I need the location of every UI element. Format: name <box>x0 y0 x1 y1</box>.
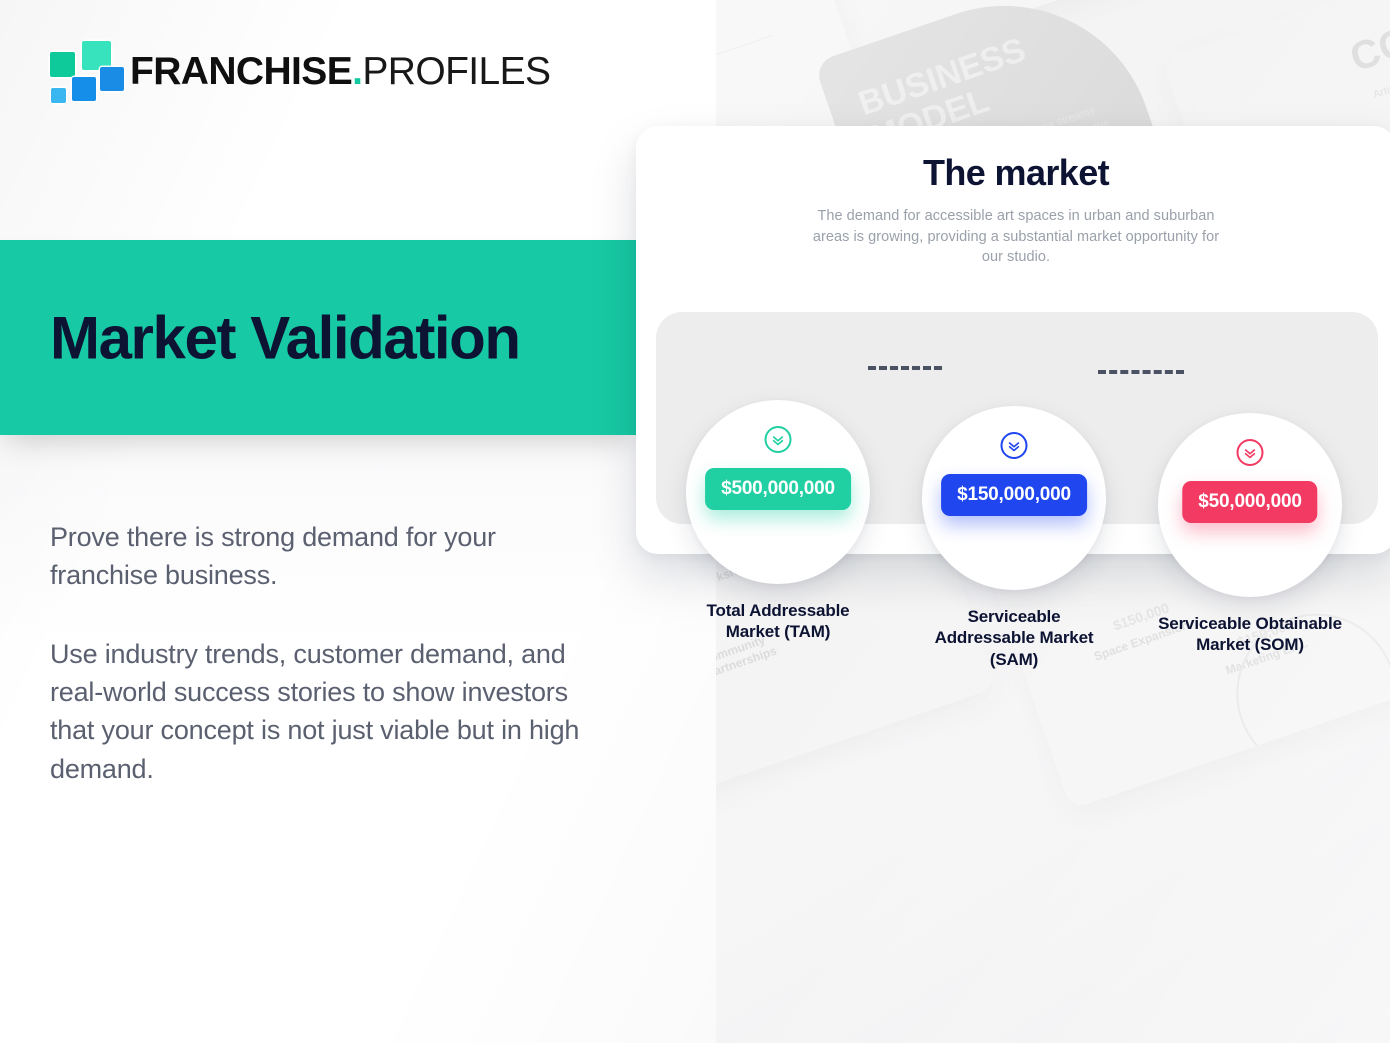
market-node-som-disc: $50,000,000 <box>1158 413 1342 597</box>
market-node-sam-disc: $150,000,000 <box>922 406 1106 590</box>
market-node-tam-value: $500,000,000 <box>705 468 851 510</box>
market-node-tam-caption: Total Addressable Market (TAM) <box>686 600 870 643</box>
slide-canvas: Lack of Accessibility High Cost Limited … <box>0 0 1390 1043</box>
connector-sam-to-som <box>1098 370 1184 374</box>
logo-square-teal-dark <box>50 52 75 77</box>
market-nodes-group: $500,000,000 Total Addressable Market (T… <box>636 126 1390 554</box>
double-chevron-down-icon <box>1237 439 1264 466</box>
logo-word-profiles: PROFILES <box>362 50 550 93</box>
brand-logo[interactable]: FRANCHISE.PROFILES <box>48 40 550 102</box>
market-node-som-caption: Serviceable Obtainable Market (SOM) <box>1158 613 1342 656</box>
logo-square-blue-2 <box>100 67 124 91</box>
page-title: Market Validation <box>50 303 520 372</box>
body-copy: Prove there is strong demand for your fr… <box>50 518 595 788</box>
connector-tam-to-sam <box>868 366 942 370</box>
bg-rule-1 <box>716 35 773 95</box>
market-node-sam[interactable]: $150,000,000 Serviceable Addressable Mar… <box>922 406 1106 670</box>
left-panel: FRANCHISE.PROFILES Prove there is strong… <box>0 0 716 1043</box>
logo-dot: . <box>352 50 362 93</box>
body-paragraph-1: Prove there is strong demand for your fr… <box>50 518 595 595</box>
logo-wordmark: FRANCHISE.PROFILES <box>130 52 550 91</box>
logo-square-blue-1 <box>72 77 96 101</box>
double-chevron-down-icon <box>1001 432 1028 459</box>
logo-square-blue-small <box>51 88 66 103</box>
market-node-sam-value: $150,000,000 <box>941 474 1087 516</box>
bg-title-competition: COMP <box>1345 0 1390 81</box>
market-node-tam-disc: $500,000,000 <box>686 400 870 584</box>
logo-square-teal-light <box>82 41 111 70</box>
title-banner: Market Validation <box>0 240 638 435</box>
market-card: The market The demand for accessible art… <box>636 126 1390 554</box>
market-node-sam-caption: Serviceable Addressable Market (SAM) <box>922 606 1106 670</box>
market-node-som[interactable]: $50,000,000 Serviceable Obtainable Marke… <box>1158 413 1342 656</box>
logo-word-franchise: FRANCHISE <box>130 50 352 93</box>
logo-squares-icon <box>48 40 110 102</box>
market-node-tam[interactable]: $500,000,000 Total Addressable Market (T… <box>686 400 870 643</box>
market-node-som-value: $50,000,000 <box>1182 481 1317 523</box>
double-chevron-down-icon <box>765 426 792 453</box>
body-paragraph-2: Use industry trends, customer demand, an… <box>50 635 595 788</box>
